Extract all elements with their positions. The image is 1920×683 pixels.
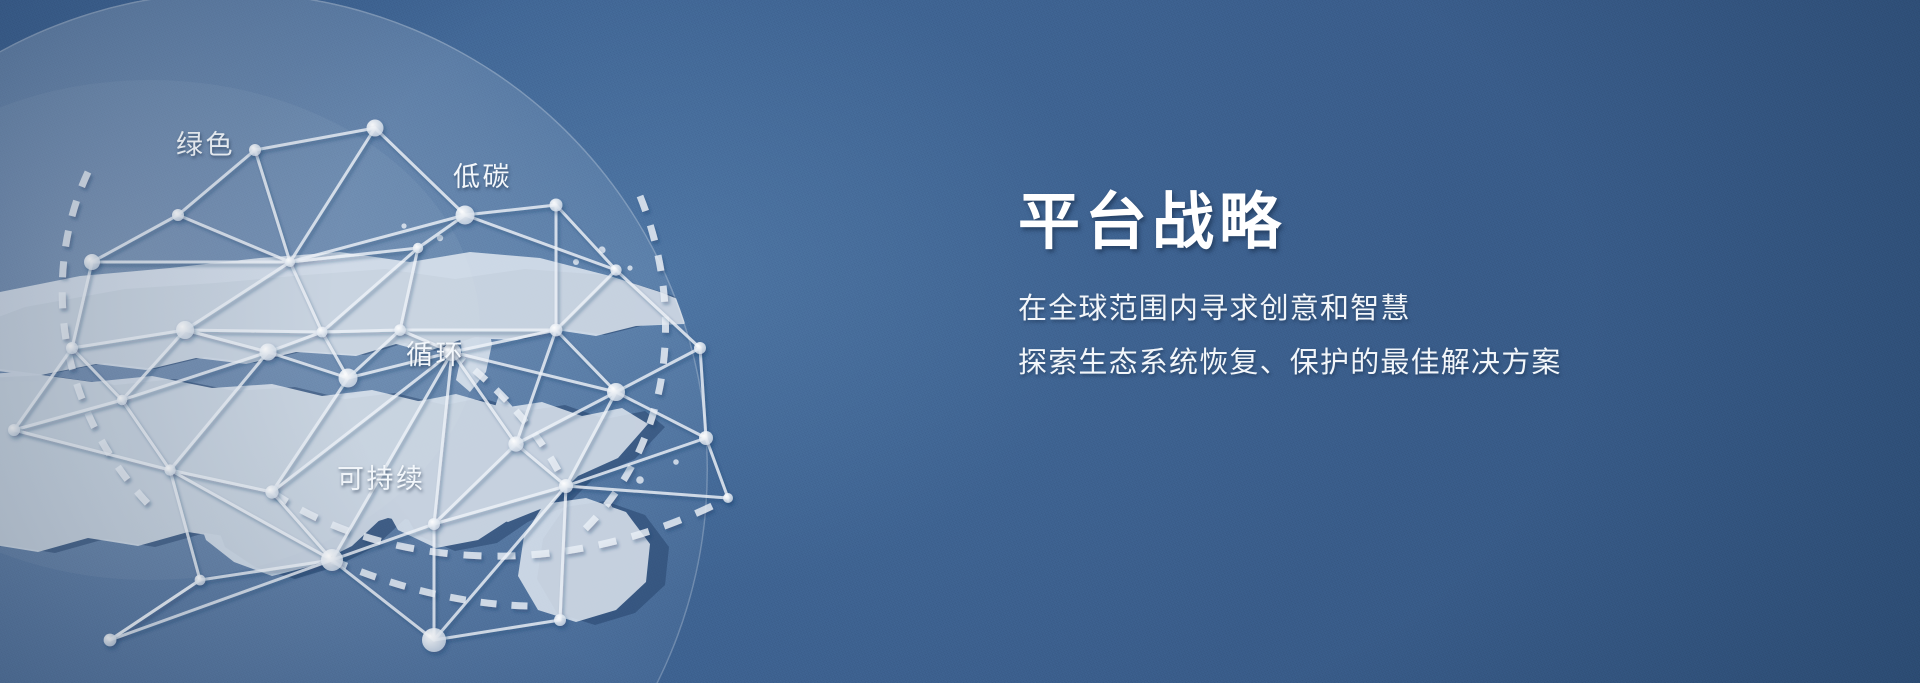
banner-hero: 绿色 低碳 循环 可持续 平台战略 在全球范围内寻求创意和智慧 探索生态系统恢复…: [0, 0, 1920, 683]
headline-block: 平台战略 在全球范围内寻求创意和智慧 探索生态系统恢复、保护的最佳解决方案: [1018, 188, 1798, 385]
page-title: 平台战略: [1018, 188, 1798, 257]
subtitle-list: 在全球范围内寻求创意和智慧 探索生态系统恢复、保护的最佳解决方案: [1018, 288, 1798, 384]
subtitle-line-1: 在全球范围内寻求创意和智慧: [1018, 288, 1798, 330]
subtitle-line-2: 探索生态系统恢复、保护的最佳解决方案: [1018, 342, 1798, 384]
